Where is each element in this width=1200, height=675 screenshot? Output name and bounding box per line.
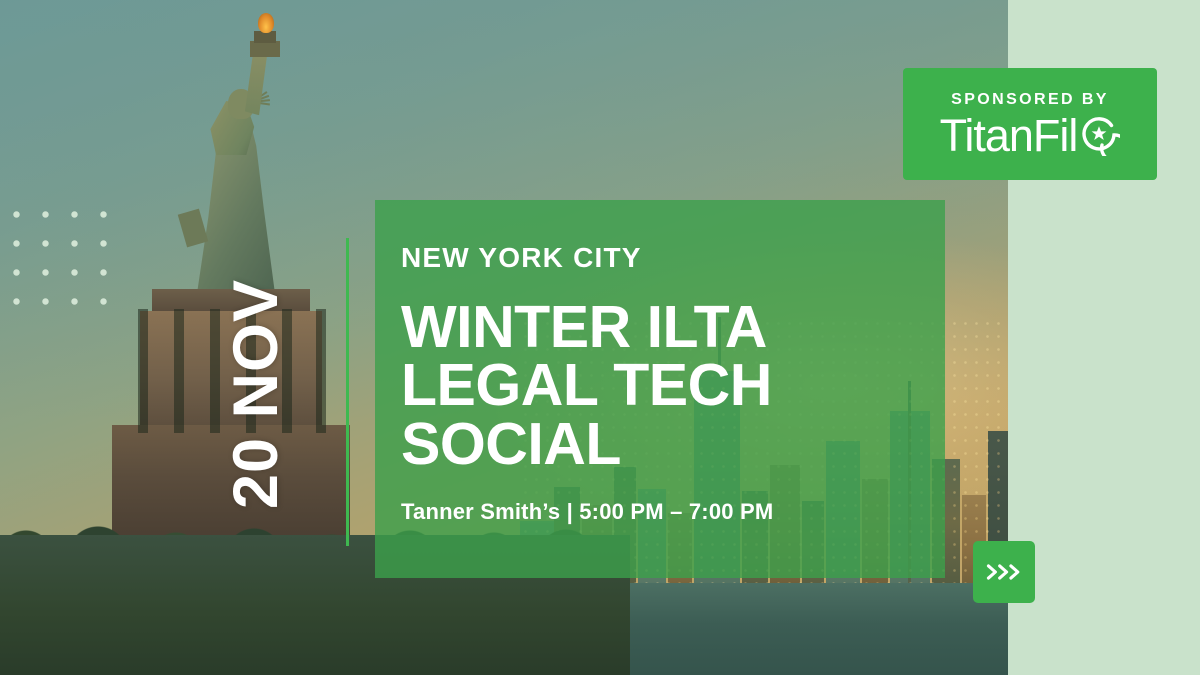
sponsored-by-label: SPONSORED BY [951,91,1109,109]
titanfile-swoosh-star-icon [1078,114,1120,156]
triple-chevron-right-icon[interactable] [973,541,1035,603]
torch-handle [250,41,280,57]
event-title-line-3: SOCIAL [401,415,945,473]
titanfile-wordmark: TitanFil [940,113,1078,158]
dot-grid-pattern-icon [2,200,120,318]
event-venue-time: Tanner Smith’s | 5:00 PM – 7:00 PM [401,499,945,525]
event-title-line-2: LEGAL TECH [401,356,945,414]
event-date: 20 NOV [220,279,292,509]
promo-graphic: 20 NOV NEW YORK CITY WINTER ILTA LEGAL T… [0,0,1200,675]
event-city: NEW YORK CITY [401,244,945,272]
titanfile-logo: TitanFil [940,113,1121,158]
event-date-block: 20 NOV [196,244,316,544]
event-title-line-1: WINTER ILTA [401,298,945,356]
event-info-panel: NEW YORK CITY WINTER ILTA LEGAL TECH SOC… [375,200,945,578]
vertical-divider-icon [346,238,349,546]
event-title: WINTER ILTA LEGAL TECH SOCIAL [401,298,945,473]
torch-flame [258,13,274,33]
sponsor-badge: SPONSORED BY TitanFil [903,68,1157,180]
